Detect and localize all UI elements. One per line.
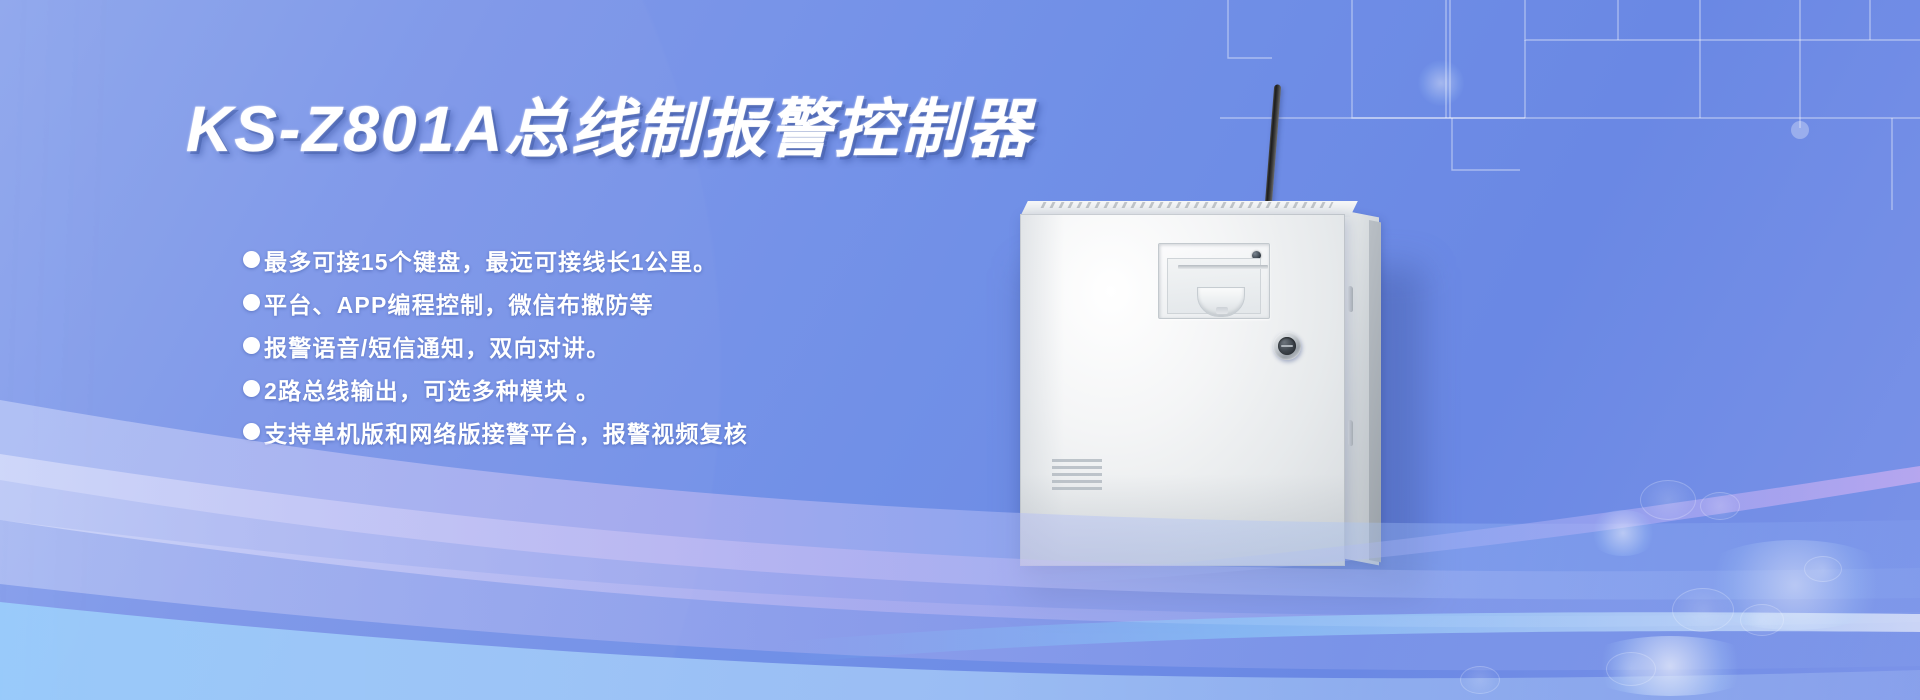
feature-item-5: 支持单机版和网络版接警平台，报警视频复核 <box>243 410 983 453</box>
bullet-icon <box>243 294 260 311</box>
keypad-inner-panel <box>1167 258 1261 314</box>
bullet-icon <box>243 251 260 268</box>
door-handle <box>1197 287 1245 317</box>
key-lock-icon <box>1273 332 1301 360</box>
feature-text: 支持单机版和网络版接警平台，报警视频复核 <box>264 415 748 449</box>
vent-grille <box>1052 459 1102 491</box>
bokeh-circle-3 <box>1672 588 1734 632</box>
lock-keyway <box>1281 345 1293 347</box>
feature-text: 2路总线输出，可选多种模块 。 <box>264 372 600 406</box>
product-banner: KS-Z801A总线制报警控制器 最多可接15个键盘，最远可接线长1公里。 平台… <box>0 0 1920 700</box>
page-title: KS-Z801A总线制报警控制器 <box>186 78 1032 170</box>
bullet-icon <box>243 380 260 397</box>
glow-highlight-box-edge <box>1588 510 1658 556</box>
enclosure-hinge-bottom <box>1348 420 1353 447</box>
bokeh-circle-5 <box>1804 556 1842 582</box>
glow-highlight-center <box>1580 636 1760 696</box>
handle-notch <box>1216 307 1228 314</box>
feature-item-3: 报警语音/短信通知，双向对讲。 <box>243 324 983 367</box>
feature-text: 报警语音/短信通知，双向对讲。 <box>264 329 610 363</box>
keypad-display-recess <box>1158 243 1270 319</box>
bokeh-circle-7 <box>1460 666 1500 694</box>
top-vent-slots <box>1041 202 1334 208</box>
circuit-node <box>1791 121 1809 139</box>
feature-item-1: 最多可接15个键盘，最远可接线长1公里。 <box>243 238 983 281</box>
enclosure-hinge-top <box>1348 286 1353 313</box>
feature-text: 最多可接15个键盘，最远可接线长1公里。 <box>264 243 717 277</box>
feature-item-4: 2路总线输出，可选多种模块 。 <box>243 367 983 410</box>
bokeh-circle-2 <box>1700 492 1740 520</box>
bokeh-circle-4 <box>1740 604 1784 636</box>
enclosure-front-door <box>1020 214 1345 566</box>
glow-highlight-right <box>1690 540 1900 630</box>
bullet-icon <box>243 337 260 354</box>
feature-text: 平台、APP编程控制，微信布撤防等 <box>264 286 654 320</box>
feature-list: 最多可接15个键盘，最远可接线长1公里。 平台、APP编程控制，微信布撤防等 报… <box>243 238 983 453</box>
feature-item-2: 平台、APP编程控制，微信布撤防等 <box>243 281 983 324</box>
bullet-icon <box>243 423 260 440</box>
bokeh-circle-6 <box>1606 652 1656 686</box>
enclosure-side-lip <box>1369 220 1381 562</box>
lock-core <box>1278 337 1296 355</box>
keypad-slot <box>1178 265 1268 269</box>
product-image-alarm-control-panel <box>1000 70 1440 630</box>
bokeh-circle-1 <box>1640 480 1696 520</box>
